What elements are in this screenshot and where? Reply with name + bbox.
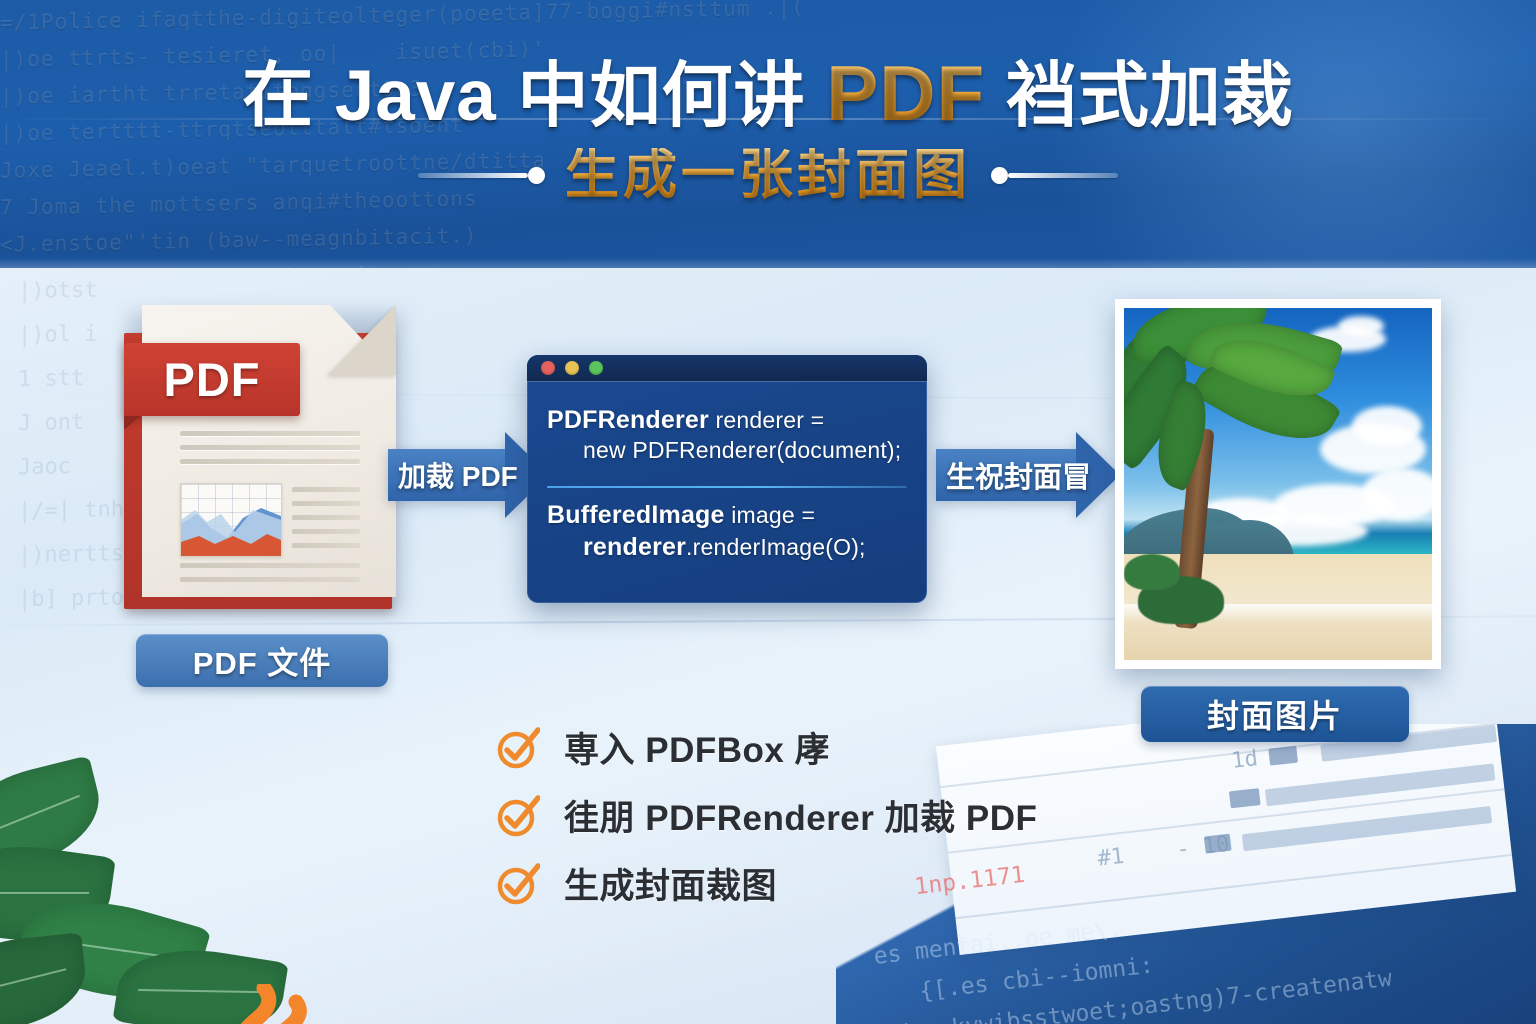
checklist-item-label: 生成封面裁图	[564, 858, 777, 909]
pdf-format-badge: PDF	[124, 343, 300, 416]
generate-cover-arrow: 生祝封面冒	[936, 432, 1120, 518]
code-line-1: PDFRenderer renderer =	[547, 404, 907, 436]
pdf-text-lines-right	[292, 487, 360, 557]
java-steam-icon	[240, 988, 299, 1024]
code-line-4-rest: .renderImage(O);	[686, 534, 866, 560]
maximize-icon[interactable]	[589, 361, 603, 375]
beach-photo	[1124, 308, 1432, 660]
checklist-item: 専入 PDFBox 庨	[496, 722, 1037, 773]
feature-checklist: 専入 PDFBox 庨 徍朋 PDFRenderer 加裁 PDF 生成封面裁图	[496, 722, 1037, 926]
deco-dot-left	[528, 167, 545, 184]
code-line-3: BufferedImage image =	[547, 499, 907, 531]
deco-dot-right	[991, 167, 1008, 184]
code-type-bufferedimage: BufferedImage	[547, 501, 725, 529]
corner-doc-mono-2: 1d	[1230, 746, 1259, 774]
title-part-2: 裆式加裁	[985, 57, 1294, 136]
title-highlight-pdf: PDF	[826, 49, 985, 137]
check-circle-icon	[496, 726, 540, 770]
checklist-item-label: 専入 PDFBox 庨	[564, 722, 830, 773]
code-var-renderer: renderer	[583, 533, 686, 561]
java-coffee-cup-logo	[176, 984, 346, 1024]
code-line-4: renderer.renderImage(O);	[547, 531, 907, 563]
generate-cover-arrow-label: 生祝封面冒	[946, 454, 1091, 496]
code-line-3-rest: image =	[725, 502, 815, 528]
checklist-item-label: 徍朋 PDFRenderer 加裁 PDF	[564, 790, 1037, 841]
page-title: 在 Java 中如何讲 PDF 裆式加裁	[0, 54, 1536, 132]
pdf-chart-thumbnail-icon	[180, 483, 282, 557]
subtitle-decoration-right	[991, 167, 1118, 184]
pdf-text-lines-top	[180, 431, 360, 473]
cover-image-caption: 封面图片	[1141, 686, 1409, 742]
check-circle-icon	[496, 794, 540, 838]
deco-bar-left	[418, 173, 528, 178]
code-window-titlebar	[527, 355, 927, 382]
pdf-document-illustration: PDF	[124, 305, 396, 608]
title-part-1: 在 Java 中如何讲	[242, 57, 826, 136]
load-pdf-arrow-label: 加裁 PDF	[398, 455, 518, 495]
minimize-icon[interactable]	[565, 361, 579, 375]
code-divider	[547, 486, 907, 488]
infographic-canvas: =/1Police ifaqtthe-digiteolteger(poeeta]…	[0, 0, 1536, 1024]
code-window: PDFRenderer renderer = new PDFRenderer(d…	[527, 355, 927, 603]
cover-photo-frame	[1115, 299, 1441, 669]
deco-bar-right	[1008, 173, 1118, 178]
code-line-1-rest: renderer =	[709, 407, 824, 433]
code-window-body: PDFRenderer renderer = new PDFRenderer(d…	[527, 382, 927, 563]
check-circle-icon	[496, 862, 540, 906]
subtitle-row: 生成一张封面图	[0, 148, 1536, 202]
pdf-badge-label: PDF	[164, 352, 261, 407]
header-banner: =/1Police ifaqtthe-digiteolteger(poeeta]…	[0, 0, 1536, 268]
load-pdf-arrow: 加裁 PDF	[388, 432, 549, 518]
close-icon[interactable]	[541, 361, 555, 375]
code-line-2-rest: new PDFRenderer(document);	[583, 437, 901, 463]
checklist-item: 生成封面裁图	[496, 858, 1037, 909]
page-subtitle: 生成一张封面图	[565, 148, 971, 202]
checklist-item: 徍朋 PDFRenderer 加裁 PDF	[496, 790, 1037, 841]
code-line-2: new PDFRenderer(document);	[547, 436, 907, 465]
code-type-pdfrenderer: PDFRenderer	[547, 406, 709, 434]
subtitle-decoration-left	[418, 167, 545, 184]
pdf-file-caption: PDF 文件	[136, 634, 388, 687]
pdf-text-lines-bottom	[180, 563, 360, 591]
